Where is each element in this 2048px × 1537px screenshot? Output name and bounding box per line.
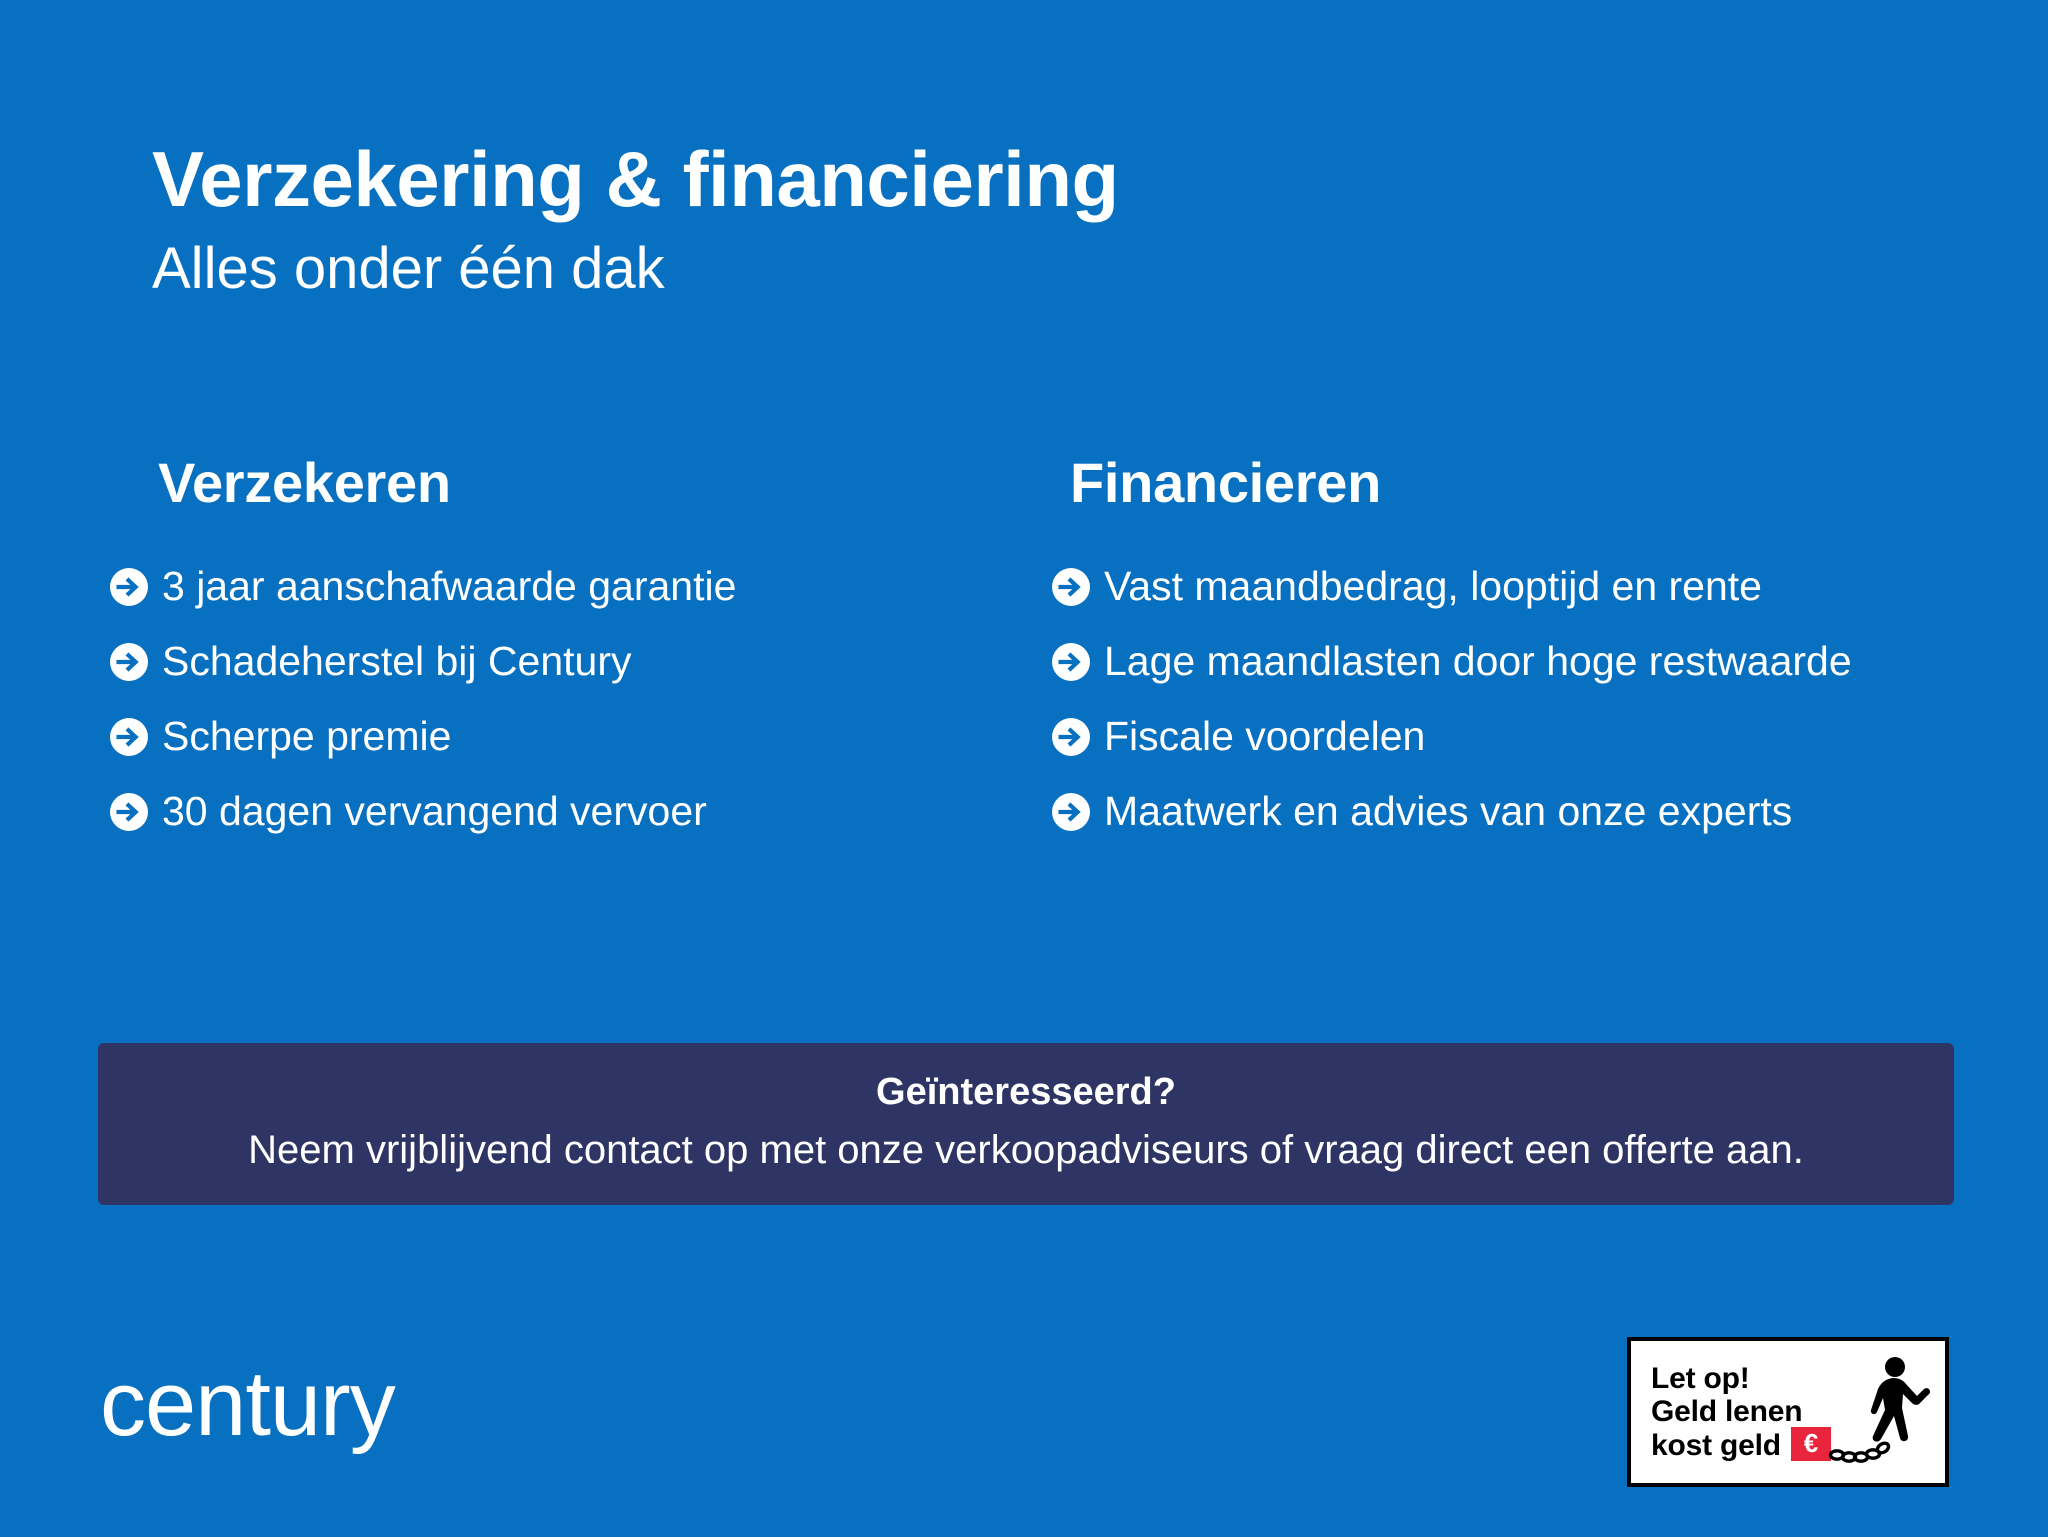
loan-warning-box: Let op! Geld lenen kost geld € — [1627, 1337, 1949, 1487]
century-logo: century — [100, 1358, 395, 1450]
list-item: Scherpe premie — [110, 699, 1000, 774]
list-item-label: Maatwerk en advies van onze experts — [1104, 791, 1792, 832]
list-item: Lage maandlasten door hoge restwaarde — [1052, 624, 1942, 699]
list-item-label: 3 jaar aanschafwaarde garantie — [162, 566, 736, 607]
euro-block-icon: € — [1791, 1427, 1831, 1461]
list-item-label: Scherpe premie — [162, 716, 451, 757]
arrow-right-circle-icon — [110, 718, 148, 756]
loan-warning-line-1: Let op! — [1651, 1362, 1802, 1396]
loan-warning-artwork: € — [1789, 1345, 1939, 1475]
euro-symbol: € — [1804, 1428, 1818, 1458]
arrow-right-circle-icon — [110, 793, 148, 831]
list-item: Maatwerk en advies van onze experts — [1052, 774, 1942, 849]
column-heading: Verzekeren — [158, 455, 1000, 511]
slide-canvas: Verzekering & financiering Alles onder é… — [0, 0, 2048, 1537]
arrow-right-circle-icon — [110, 568, 148, 606]
arrow-right-circle-icon — [110, 643, 148, 681]
column-financieren: Financieren Vast maandbedrag, looptijd e… — [1052, 455, 1942, 849]
list-item-label: 30 dagen vervangend vervoer — [162, 791, 707, 832]
list-item: Schadeherstel bij Century — [110, 624, 1000, 699]
column-heading: Financieren — [1070, 455, 1942, 511]
list-item: Fiscale voordelen — [1052, 699, 1942, 774]
cta-title: Geïnteresseerd? — [128, 1069, 1924, 1117]
column-verzekeren: Verzekeren 3 jaar aanschafwaarde garanti… — [110, 455, 1000, 849]
loan-warning-line-3: kost geld — [1651, 1429, 1802, 1463]
chain-icon — [1831, 1441, 1891, 1461]
page-subtitle: Alles onder één dak — [152, 240, 1912, 298]
list-item-label: Lage maandlasten door hoge restwaarde — [1104, 641, 1852, 682]
list-item-label: Vast maandbedrag, looptijd en rente — [1104, 566, 1762, 607]
cta-text: Neem vrijblijvend contact op met onze ve… — [128, 1125, 1924, 1175]
cta-banner: Geïnteresseerd? Neem vrijblijvend contac… — [98, 1043, 1954, 1205]
list-item: Vast maandbedrag, looptijd en rente — [1052, 549, 1942, 624]
page-title: Verzekering & financiering — [152, 140, 1912, 218]
list-item: 3 jaar aanschafwaarde garantie — [110, 549, 1000, 624]
feature-columns: Verzekeren 3 jaar aanschafwaarde garanti… — [110, 455, 1990, 849]
slide-header: Verzekering & financiering Alles onder é… — [152, 140, 1912, 298]
arrow-right-circle-icon — [1052, 568, 1090, 606]
list-item: 30 dagen vervangend vervoer — [110, 774, 1000, 849]
arrow-right-circle-icon — [1052, 793, 1090, 831]
walking-person-icon — [1871, 1357, 1930, 1442]
arrow-right-circle-icon — [1052, 718, 1090, 756]
arrow-right-circle-icon — [1052, 643, 1090, 681]
feature-list-verzekeren: 3 jaar aanschafwaarde garantie Schadeher… — [110, 549, 1000, 849]
loan-warning-line-2: Geld lenen — [1651, 1395, 1802, 1429]
feature-list-financieren: Vast maandbedrag, looptijd en rente Lage… — [1052, 549, 1942, 849]
loan-warning-text: Let op! Geld lenen kost geld — [1651, 1362, 1802, 1463]
list-item-label: Fiscale voordelen — [1104, 716, 1425, 757]
list-item-label: Schadeherstel bij Century — [162, 641, 631, 682]
